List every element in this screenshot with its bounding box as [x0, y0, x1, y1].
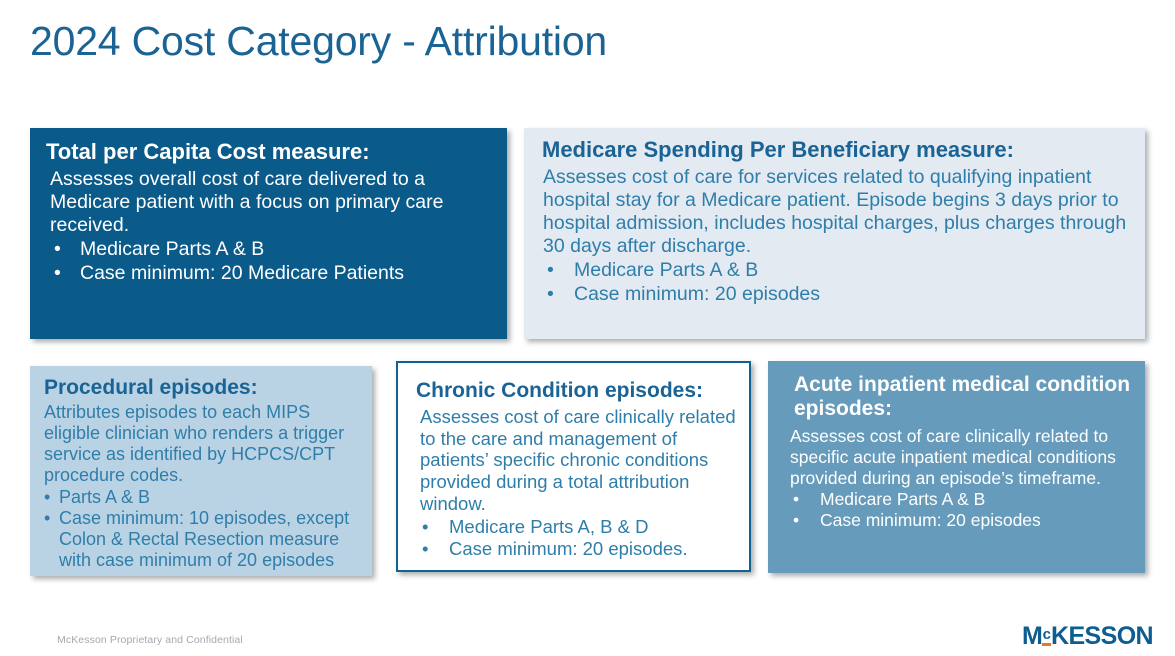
bullet-icon: • [422, 516, 428, 538]
card-body-text: Assesses cost of care clinically related… [416, 406, 737, 515]
list-item: • Case minimum: 20 episodes [542, 283, 1129, 306]
bullet-icon: • [793, 489, 799, 510]
card-bullet-list: • Medicare Parts A & B • Case minimum: 2… [542, 259, 1129, 306]
card-heading: Total per Capita Cost measure: [46, 140, 491, 165]
list-item-label: Medicare Parts A & B [80, 238, 264, 260]
list-item-label: Medicare Parts A & B [574, 259, 758, 281]
list-item: • Medicare Parts A & B [790, 489, 1133, 510]
list-item: • Case minimum: 20 Medicare Patients [46, 262, 491, 285]
list-item-label: Medicare Parts A, B & D [449, 516, 648, 537]
list-item: • Case minimum: 10 episodes, except Colo… [44, 508, 360, 572]
list-item-label: Case minimum: 20 episodes [820, 510, 1041, 530]
list-item: • Case minimum: 20 episodes [790, 510, 1133, 531]
bullet-icon: • [547, 283, 554, 306]
confidentiality-note: McKesson Proprietary and Confidential [57, 634, 243, 646]
card-acute-inpatient-medical-condition-episodes: Acute inpatient medical condition episod… [768, 361, 1145, 573]
bullet-icon: • [547, 259, 554, 282]
list-item-label: Case minimum: 20 episodes [574, 283, 820, 305]
list-item-label: Case minimum: 20 Medicare Patients [80, 262, 404, 284]
card-procedural-episodes: Procedural episodes: Attributes episodes… [30, 366, 372, 576]
logo-superscript-c: c [1042, 626, 1051, 643]
bullet-icon: • [54, 262, 61, 285]
list-item: • Parts A & B [44, 487, 360, 508]
list-item: • Medicare Parts A & B [46, 238, 491, 261]
card-body-text: Assesses overall cost of care delivered … [46, 168, 491, 237]
card-medicare-spending-per-beneficiary: Medicare Spending Per Beneficiary measur… [524, 128, 1145, 339]
mckesson-logo: McKESSON [1022, 624, 1153, 649]
card-bullet-list: • Medicare Parts A, B & D • Case minimum… [416, 516, 737, 560]
page-title: 2024 Cost Category - Attribution [30, 18, 607, 65]
card-total-per-capita-cost: Total per Capita Cost measure: Assesses … [30, 128, 507, 339]
card-bullet-list: • Medicare Parts A & B • Case minimum: 2… [46, 238, 491, 285]
list-item-label: Parts A & B [59, 487, 150, 507]
card-heading: Procedural episodes: [44, 376, 360, 400]
card-body-text: Assesses cost of care for services relat… [542, 166, 1129, 258]
bullet-icon: • [44, 508, 50, 529]
card-bullet-list: • Parts A & B • Case minimum: 10 episode… [44, 487, 360, 572]
card-body-text: Attributes episodes to each MIPS eligibl… [44, 402, 360, 487]
card-body-text: Assesses cost of care clinically related… [790, 426, 1133, 488]
bullet-icon: • [422, 538, 428, 560]
card-heading: Chronic Condition episodes: [416, 379, 737, 403]
list-item-label: Case minimum: 10 episodes, except Colon … [59, 508, 349, 570]
logo-rest-letters: KESSON [1051, 622, 1153, 650]
bullet-icon: • [793, 510, 799, 531]
logo-lead-letter: M [1022, 622, 1042, 650]
card-bullet-list: • Medicare Parts A & B • Case minimum: 2… [790, 489, 1133, 530]
list-item: • Medicare Parts A, B & D [416, 516, 737, 538]
card-heading: Medicare Spending Per Beneficiary measur… [542, 138, 1129, 163]
bullet-icon: • [44, 487, 50, 508]
list-item: • Case minimum: 20 episodes. [416, 538, 737, 560]
list-item: • Medicare Parts A & B [542, 259, 1129, 282]
card-chronic-condition-episodes: Chronic Condition episodes: Assesses cos… [396, 361, 751, 572]
list-item-label: Case minimum: 20 episodes. [449, 538, 688, 559]
card-heading: Acute inpatient medical condition episod… [790, 373, 1133, 420]
list-item-label: Medicare Parts A & B [820, 489, 985, 509]
bullet-icon: • [54, 238, 61, 261]
